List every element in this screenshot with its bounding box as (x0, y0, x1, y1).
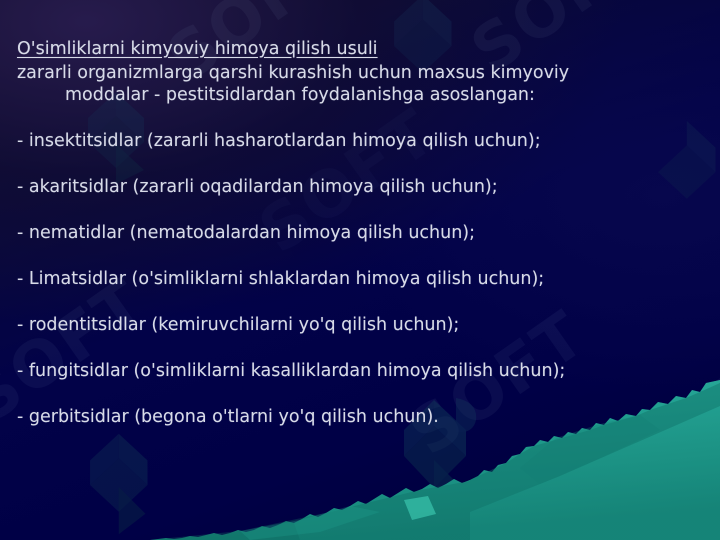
list-item: - fungitsidlar (o'simliklarni kasallikla… (17, 360, 707, 382)
list-item: - nematidlar (nematodalardan himoya qili… (17, 222, 707, 244)
bullet-list: - insektitsidlar (zararli hasharotlardan… (17, 130, 707, 428)
slide-intro-paragraph: zararli organizmlarga qarshi kurashish u… (17, 62, 677, 106)
intro-line-2: moddalar - pestitsidlardan foydalanishga… (17, 84, 677, 106)
intro-line-1: zararli organizmlarga qarshi kurashish u… (17, 62, 677, 84)
soft-diamond-logo (88, 430, 168, 536)
list-item: - insektitsidlar (zararli hasharotlardan… (17, 130, 707, 152)
list-item: - Limatsidlar (o'simliklarni shlaklardan… (17, 268, 707, 290)
list-item: - akaritsidlar (zararli oqadilardan himo… (17, 176, 707, 198)
list-item: - rodentitsidlar (kemiruvchilarni yo'q q… (17, 314, 707, 336)
slide-title: O'simliklarni kimyoviy himoya qilish usu… (17, 38, 378, 60)
list-item: - gerbitsidlar (begona o'tlarni yo'q qil… (17, 406, 707, 428)
slide-canvas: SOFT SOFT SOFT SOFT SOFT (0, 0, 720, 540)
